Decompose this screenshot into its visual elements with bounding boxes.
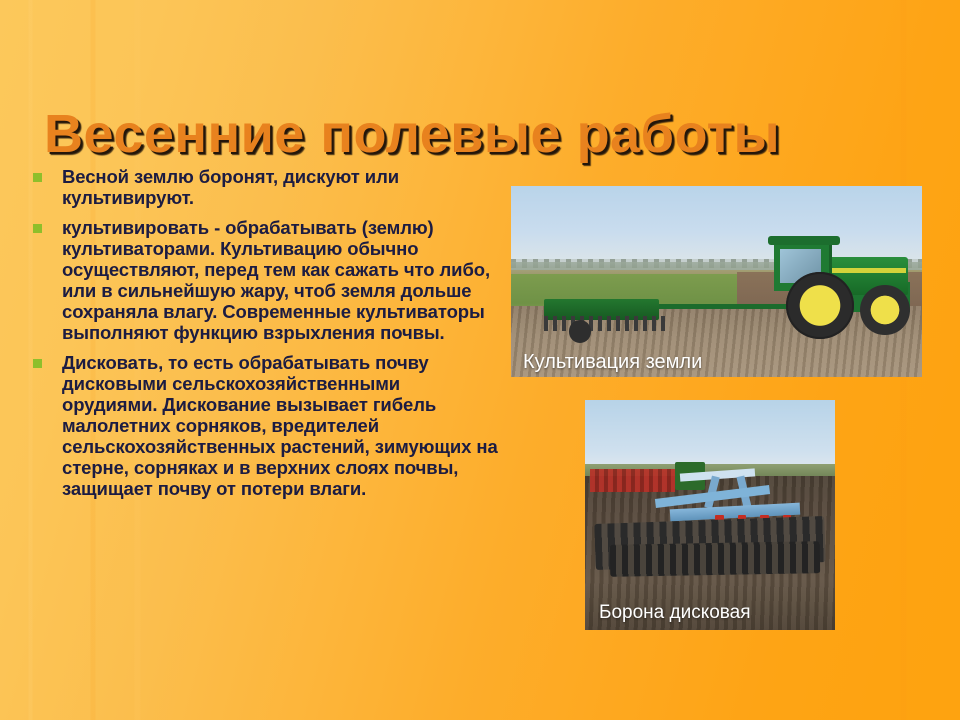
bullet-list: Весной землю боронят, дискуют или культи…: [22, 166, 500, 508]
photo-caption-harrow: Борона дисковая: [585, 602, 835, 630]
square-bullet-icon: [33, 359, 42, 368]
cultivator-tines: [544, 316, 667, 331]
photo-caption-cultivation: Культивация земли: [511, 351, 922, 377]
sky-region: [585, 400, 835, 474]
tractor-hood-stripe: [832, 268, 906, 273]
photo-disc-harrow: Борона дисковая: [585, 400, 835, 630]
bullet-text: Дисковать, то есть обрабатывать почву ди…: [62, 352, 500, 499]
presentation-slide: Весенние полевые работы Весной землю бор…: [0, 0, 960, 720]
tractor-rear-wheel: [786, 272, 854, 339]
harrow-disc-gang-rear: [610, 541, 821, 577]
tractor-roof: [768, 236, 840, 246]
cultivator-wheel: [569, 320, 592, 343]
tractor-front-wheel: [860, 285, 909, 335]
list-item: Дисковать, то есть обрабатывать почву ди…: [22, 352, 500, 499]
square-bullet-icon: [33, 173, 42, 182]
bullet-text: Весной землю боронят, дискуют или культи…: [62, 166, 500, 208]
list-item: Весной землю боронят, дискуют или культи…: [22, 166, 500, 208]
list-item: культивировать - обрабатывать (землю) ку…: [22, 217, 500, 343]
red-machinery-background: [590, 469, 675, 492]
bullet-text: культивировать - обрабатывать (землю) ку…: [62, 217, 500, 343]
photo-cultivation: Культивация земли: [511, 186, 922, 377]
page-title: Весенние полевые работы: [44, 106, 924, 163]
square-bullet-icon: [33, 224, 42, 233]
